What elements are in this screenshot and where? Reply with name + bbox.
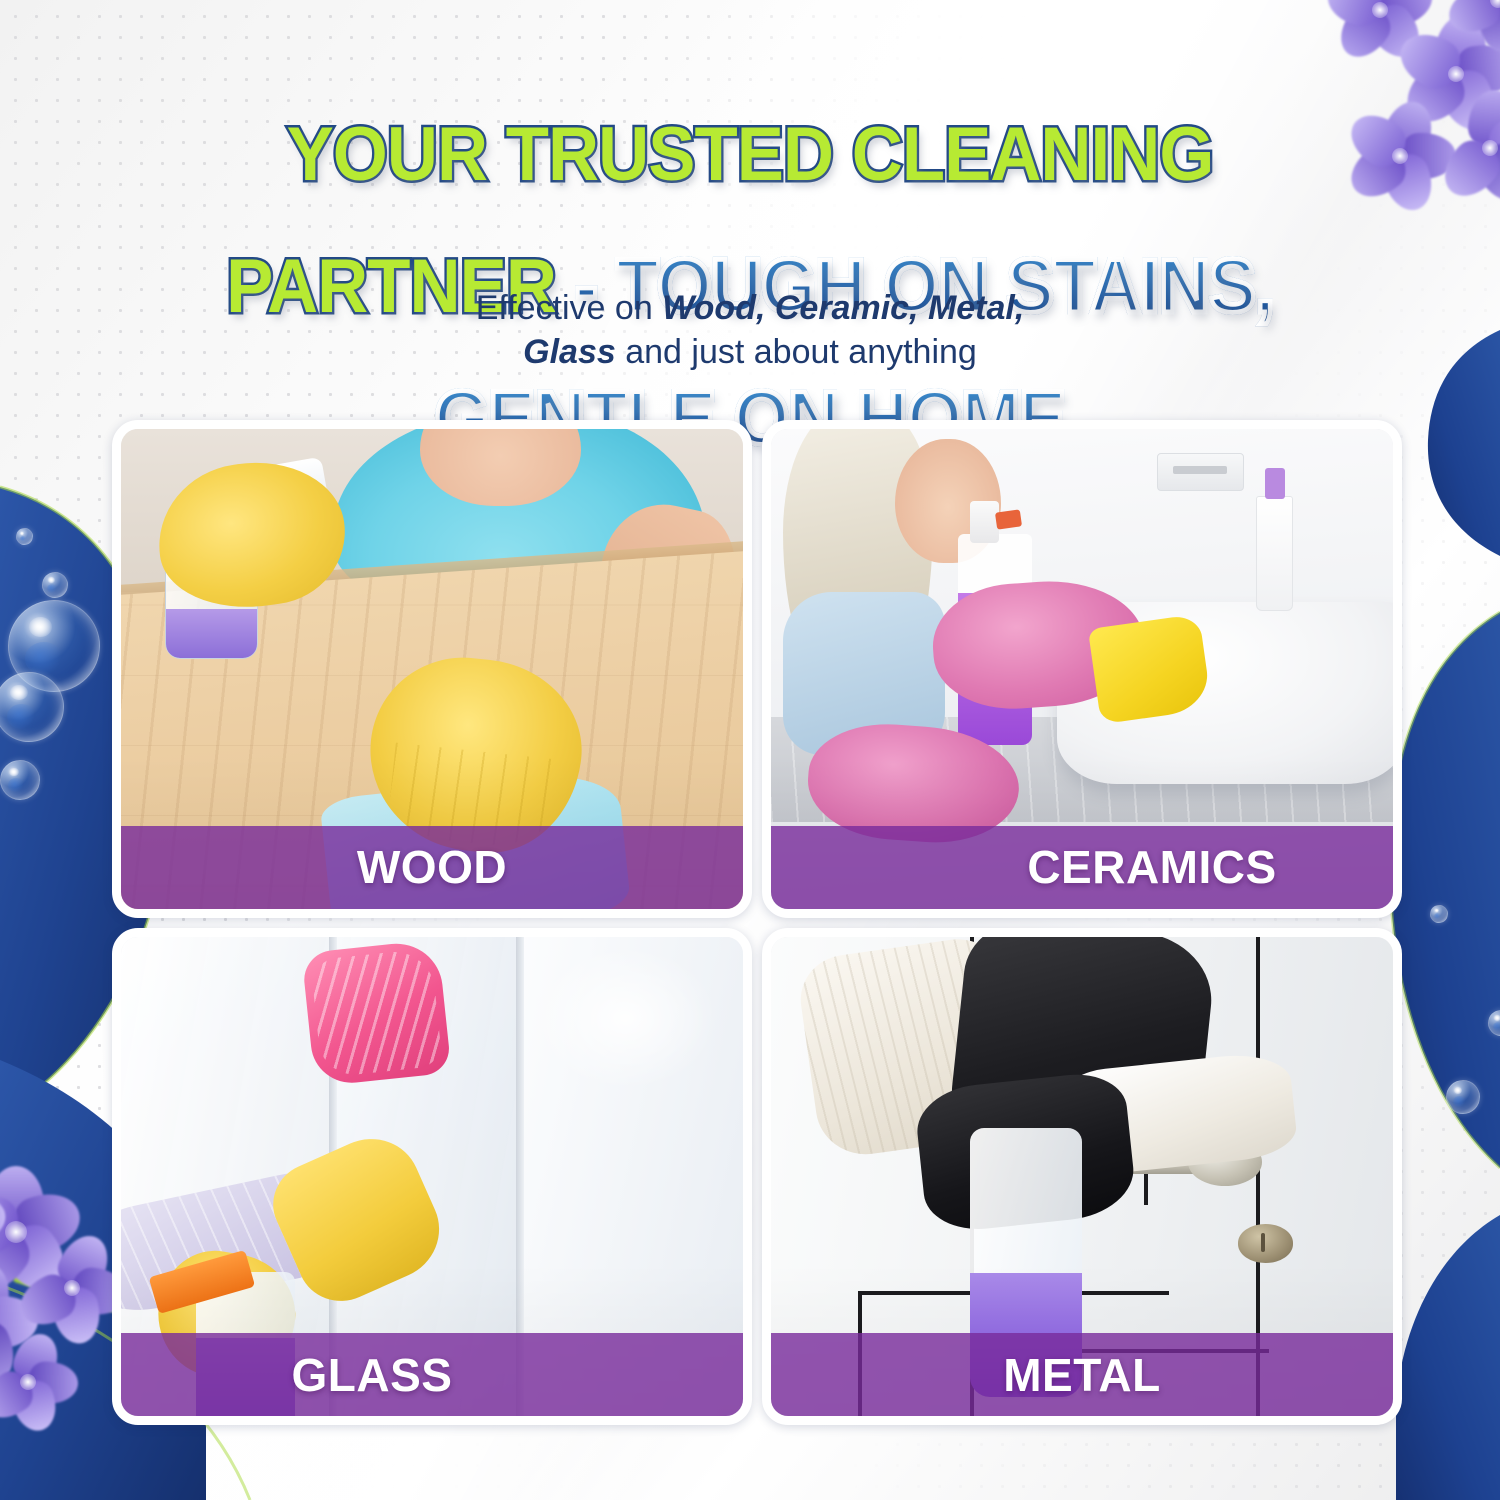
subtitle-prefix: Effective on <box>476 289 663 327</box>
card-label-glass: GLASS <box>121 1348 743 1402</box>
headline-line-1: YOUR TRUSTED CLEANING <box>53 122 1448 188</box>
card-glass[interactable]: GLASS <box>112 928 752 1426</box>
card-label-metal: METAL <box>771 1348 1393 1402</box>
card-ceramics[interactable]: CERAMICS <box>762 420 1402 918</box>
wood-label-band: WOOD <box>121 826 743 909</box>
card-label-wood: WOOD <box>121 840 743 894</box>
ceramics-label-band: CERAMICS <box>771 826 1393 909</box>
subtitle-suffix: and just about anything <box>616 333 977 371</box>
poster-canvas: YOUR TRUSTED CLEANING PARTNER - TOUGH ON… <box>0 0 1500 1500</box>
material-card-grid: WOOD CERAMICS <box>112 420 1402 1425</box>
subtitle: Effective on Wood, Ceramic, Metal,Glass … <box>0 286 1500 374</box>
card-wood[interactable]: WOOD <box>112 420 752 918</box>
card-label-ceramics: CERAMICS <box>771 840 1393 894</box>
card-metal[interactable]: METAL <box>762 928 1402 1426</box>
metal-label-band: METAL <box>771 1333 1393 1416</box>
subtitle-materials-line2: Glass <box>523 333 616 371</box>
subtitle-materials-line1: Wood, Ceramic, Metal, <box>662 289 1024 327</box>
glass-label-band: GLASS <box>121 1333 743 1416</box>
